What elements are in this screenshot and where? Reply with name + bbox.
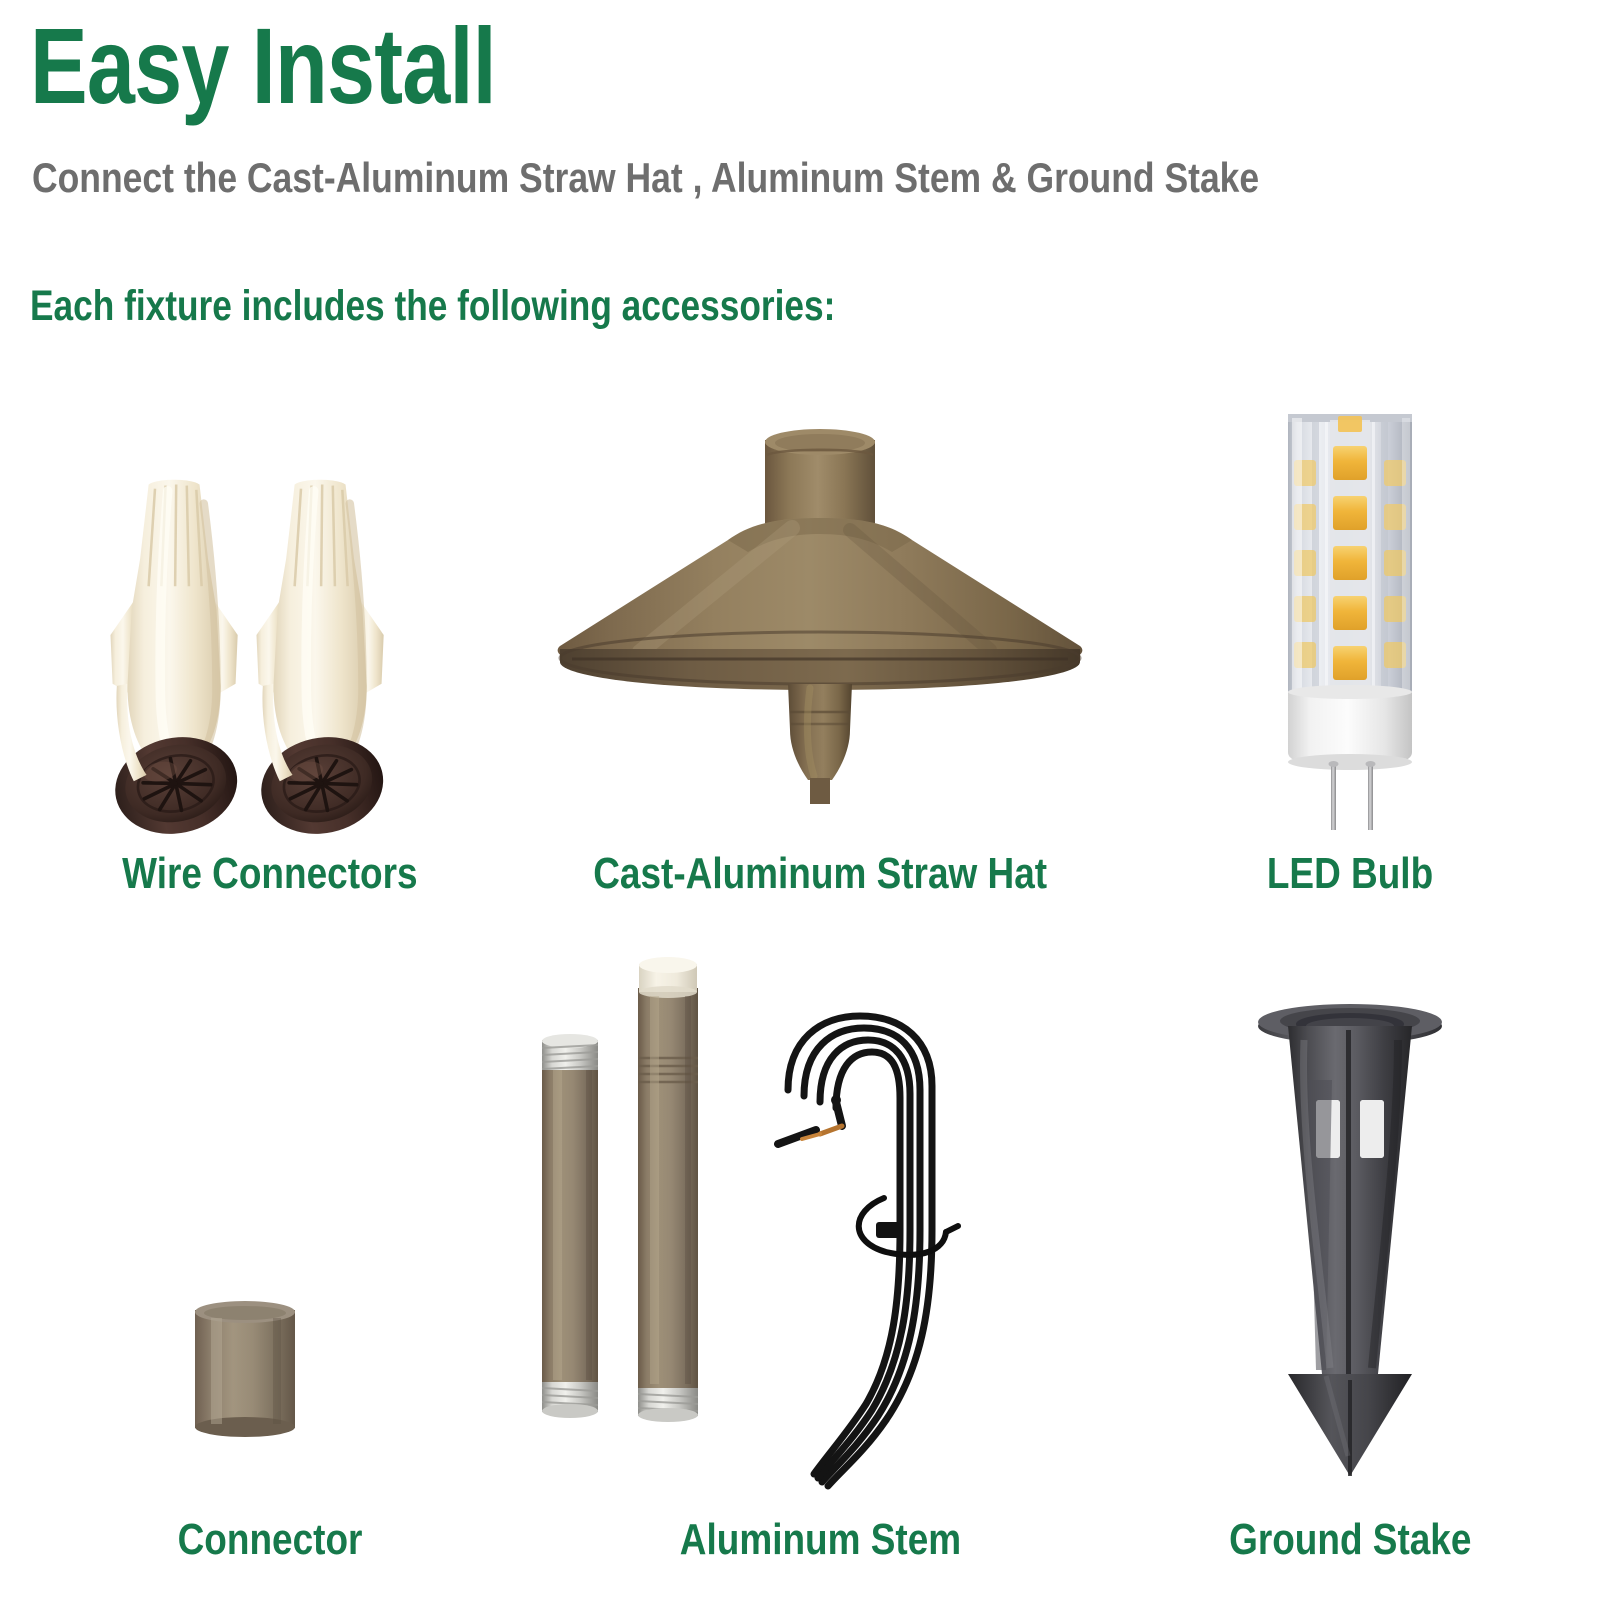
item-label-ground-stake: Ground Stake	[1140, 1518, 1560, 1562]
item-ground-stake	[1140, 960, 1560, 1500]
aluminum-stem-with-wire-icon	[520, 930, 1120, 1500]
item-aluminum-stem	[520, 930, 1120, 1500]
item-connector	[40, 960, 500, 1500]
item-label-aluminum-stem: Aluminum Stem	[520, 1518, 1120, 1562]
item-led-bulb	[1140, 400, 1560, 840]
bronze-coupler-icon	[40, 960, 500, 1500]
item-wire-connectors	[40, 400, 500, 840]
g4-led-bulb-icon	[1140, 400, 1560, 840]
wire-connector-pair-icon	[40, 400, 500, 840]
item-label-straw-hat: Cast-Aluminum Straw Hat	[520, 852, 1120, 896]
item-straw-hat	[520, 400, 1120, 840]
straw-hat-shade-icon	[520, 400, 1120, 840]
page-title: Easy Install	[30, 12, 496, 120]
item-label-led-bulb: LED Bulb	[1140, 852, 1560, 896]
item-label-wire-connectors: Wire Connectors	[40, 852, 500, 896]
page-subtitle: Connect the Cast-Aluminum Straw Hat , Al…	[32, 157, 1259, 199]
accessories-intro-text: Each fixture includes the following acce…	[30, 285, 835, 328]
ground-stake-icon	[1140, 960, 1560, 1500]
item-label-connector: Connector	[40, 1518, 500, 1562]
